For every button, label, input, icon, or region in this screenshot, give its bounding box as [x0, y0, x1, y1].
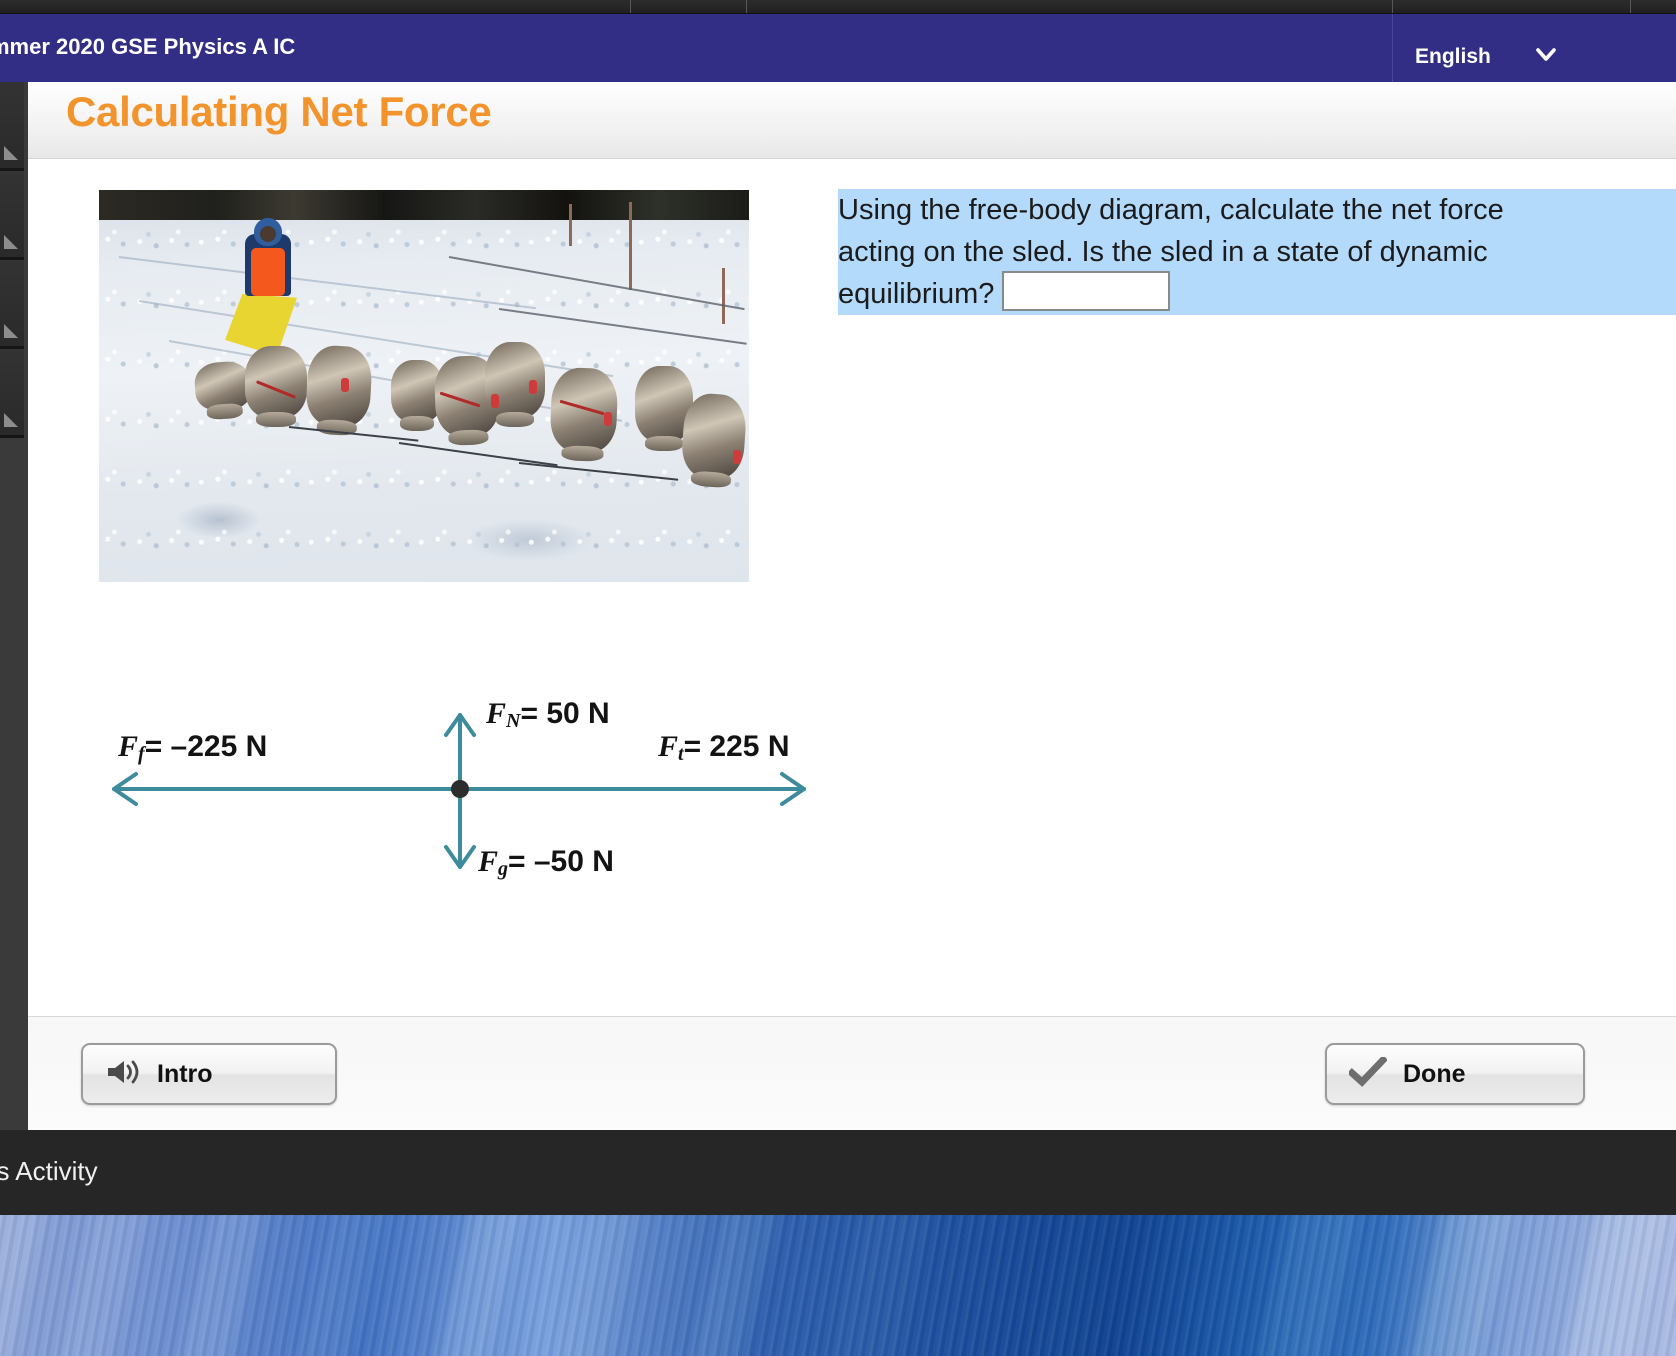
slide-thumbnail[interactable] [0, 82, 24, 171]
sled-dog [245, 346, 307, 418]
tab-divider [1630, 0, 1631, 13]
trail-pole [629, 202, 632, 290]
slide-thumbnail-rail[interactable] [0, 82, 28, 1130]
sled-dog [305, 344, 373, 427]
question-line-2: acting on the sled. Is the sled in a sta… [838, 231, 1488, 273]
intro-button[interactable]: Intro [81, 1043, 337, 1105]
dog-sled-image [99, 190, 749, 582]
sled-dog [680, 392, 748, 480]
done-button[interactable]: Done [1325, 1043, 1585, 1105]
speaker-icon [105, 1057, 141, 1092]
force-label-tension: Ft= 225 N [658, 730, 790, 766]
chevron-down-icon[interactable] [1533, 42, 1559, 68]
tab-divider [746, 0, 747, 13]
done-button-label: Done [1403, 1060, 1466, 1089]
screen-root: mmer 2020 GSE Physics A IC English Calcu… [0, 0, 1676, 1356]
force-label-gravity: Fg= –50 N [478, 845, 614, 881]
thumbnail-corner-icon [4, 413, 18, 427]
language-label[interactable]: English [1415, 45, 1491, 69]
dog-tongue [491, 394, 499, 408]
header-divider [1392, 14, 1393, 82]
slide-thumbnail[interactable] [0, 260, 24, 349]
activity-navigation-bar[interactable]: us Activity [0, 1130, 1676, 1215]
thumbnail-corner-icon [4, 324, 18, 338]
free-body-diagram: Ff= –225 N FN= 50 N Ft= 225 N Fg= –50 N [56, 602, 846, 902]
thumbnail-corner-icon [4, 235, 18, 249]
answer-input[interactable] [1002, 271, 1170, 311]
desktop-wallpaper [0, 1215, 1676, 1356]
card-titlebar: Calculating Net Force [28, 82, 1676, 159]
course-title: mmer 2020 GSE Physics A IC [0, 34, 295, 60]
slide-thumbnail[interactable] [0, 349, 24, 438]
question-text: Using the free-body diagram, calculate t… [838, 189, 1676, 315]
trail-pole [569, 204, 572, 246]
tab-divider [1392, 0, 1393, 13]
question-panel: Using the free-body diagram, calculate t… [838, 189, 1676, 315]
force-label-normal: FN= 50 N [486, 697, 610, 733]
thumbnail-corner-icon [4, 146, 18, 160]
origin-dot [451, 780, 469, 798]
intro-button-label: Intro [157, 1060, 213, 1089]
musher-vest [251, 248, 285, 296]
dog-tongue [604, 412, 612, 426]
question-line-1: Using the free-body diagram, calculate t… [838, 189, 1504, 231]
card-footer: Intro Done [28, 1016, 1676, 1131]
slide-thumbnail[interactable] [0, 171, 24, 260]
tab-divider [630, 0, 631, 13]
checkmark-icon [1349, 1057, 1387, 1092]
app-header: mmer 2020 GSE Physics A IC English [0, 14, 1676, 82]
sled-dog [550, 367, 619, 453]
trail-pole [722, 268, 725, 324]
musher-face [260, 226, 276, 242]
browser-tab-strip[interactable] [0, 0, 1676, 14]
dog-tongue [341, 378, 349, 392]
page-title: Calculating Net Force [66, 88, 491, 136]
dog-tongue [733, 450, 741, 464]
dog-tongue [529, 380, 537, 394]
previous-activity-label[interactable]: us Activity [0, 1156, 98, 1187]
question-line-3: equilibrium? [838, 273, 1170, 315]
force-label-friction: Ff= –225 N [118, 730, 267, 766]
sled-dog [193, 360, 252, 412]
